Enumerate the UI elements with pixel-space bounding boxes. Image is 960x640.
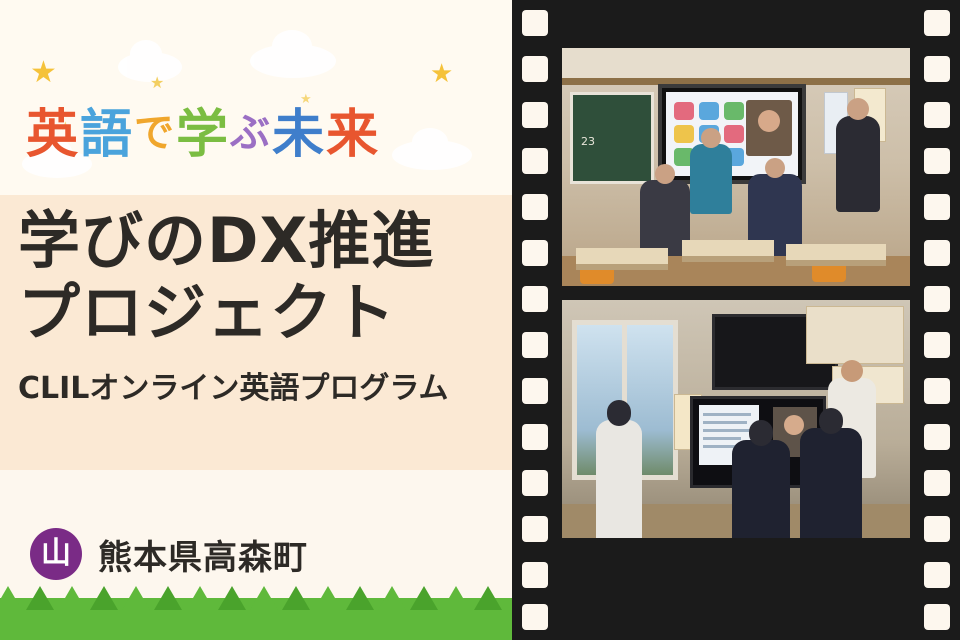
film-perforation [924,516,950,542]
headline-char: 未 [272,92,326,167]
star-icon: ★ [30,58,57,88]
film-perforation [522,286,548,312]
film-perforation [924,378,950,404]
film-perforation [522,470,548,496]
headline-char: 来 [326,92,380,167]
film-strip: 23 [512,0,960,640]
film-perforation [924,470,950,496]
page-title-line-1: 学びのDX推進 [18,205,504,277]
film-perforation [924,424,950,450]
film-perforation [522,424,548,450]
student-figure [690,144,732,214]
town-logo-mark: 山 [41,539,71,569]
town-name: 熊本県高森町 [98,530,308,579]
film-perforation [522,332,548,358]
grass-blades [0,588,512,610]
film-perforation [522,516,548,542]
film-perforation [522,604,548,630]
film-perforation [924,562,950,588]
headline-char: 語 [80,92,134,167]
student-figure [800,428,862,538]
title-block: 学びのDX推進 プロジェクト CLILオンライン英語プログラム [18,205,504,407]
student-figure [732,440,790,538]
poster-root: ★ ★ ★ ★ ★ 英語で学ぶ未来 学びのDX推進 プロジェクト CLILオンラ… [0,0,960,640]
film-perforation [522,148,548,174]
film-perforation [522,56,548,82]
film-perforation [924,286,950,312]
film-perforation [522,562,548,588]
star-icon: ★ [430,60,453,86]
film-perforation [924,56,950,82]
left-panel: ★ ★ ★ ★ ★ 英語で学ぶ未来 学びのDX推進 プロジェクト CLILオンラ… [0,0,512,640]
film-perforation [522,378,548,404]
headline: 英語で学ぶ未来 [26,92,486,162]
film-perforation [924,102,950,128]
page-subtitle: CLILオンライン英語プログラム [18,363,504,407]
film-perforation [924,194,950,220]
headline-char: で [134,100,176,158]
film-perforation [924,332,950,358]
cloud-icon [250,44,336,78]
film-perforation [924,10,950,36]
film-perforation [522,102,548,128]
wall-poster [806,306,904,364]
film-perforation [522,240,548,266]
teacher-figure [836,116,880,212]
film-perforation [924,148,950,174]
film-perforation [924,604,950,630]
star-icon: ★ [150,76,164,92]
student-figure [596,420,642,538]
headline-char: ぶ [230,100,272,158]
film-perforation [522,194,548,220]
classroom-photo-junior-high [562,300,910,538]
page-title-line-2: プロジェクト [18,277,504,349]
headline-char: 英 [26,92,80,167]
headline-char: 学 [176,92,230,167]
classroom-photo-elementary: 23 [562,48,910,286]
town-logo-icon: 山 [30,528,82,580]
footer-logo-row: 山 熊本県高森町 [30,528,308,580]
film-perforation [522,10,548,36]
chalkboard: 23 [570,92,654,184]
film-perforation [924,240,950,266]
